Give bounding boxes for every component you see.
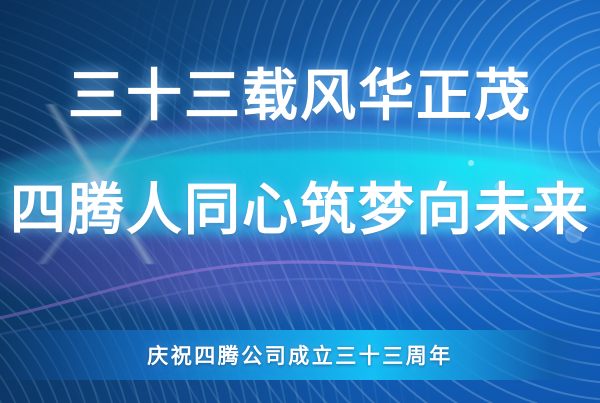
subtitle-text: 庆祝四腾公司成立三十三周年 xyxy=(147,340,453,370)
headline-line-2: 四腾人同心筑梦向未来 xyxy=(0,182,600,238)
headline-line-1: 三十三载风华正茂 xyxy=(0,68,600,124)
anniversary-banner: 三十三载风华正茂 四腾人同心筑梦向未来 庆祝四腾公司成立三十三周年 xyxy=(0,0,600,403)
subtitle-band: 庆祝四腾公司成立三十三周年 xyxy=(0,330,600,380)
